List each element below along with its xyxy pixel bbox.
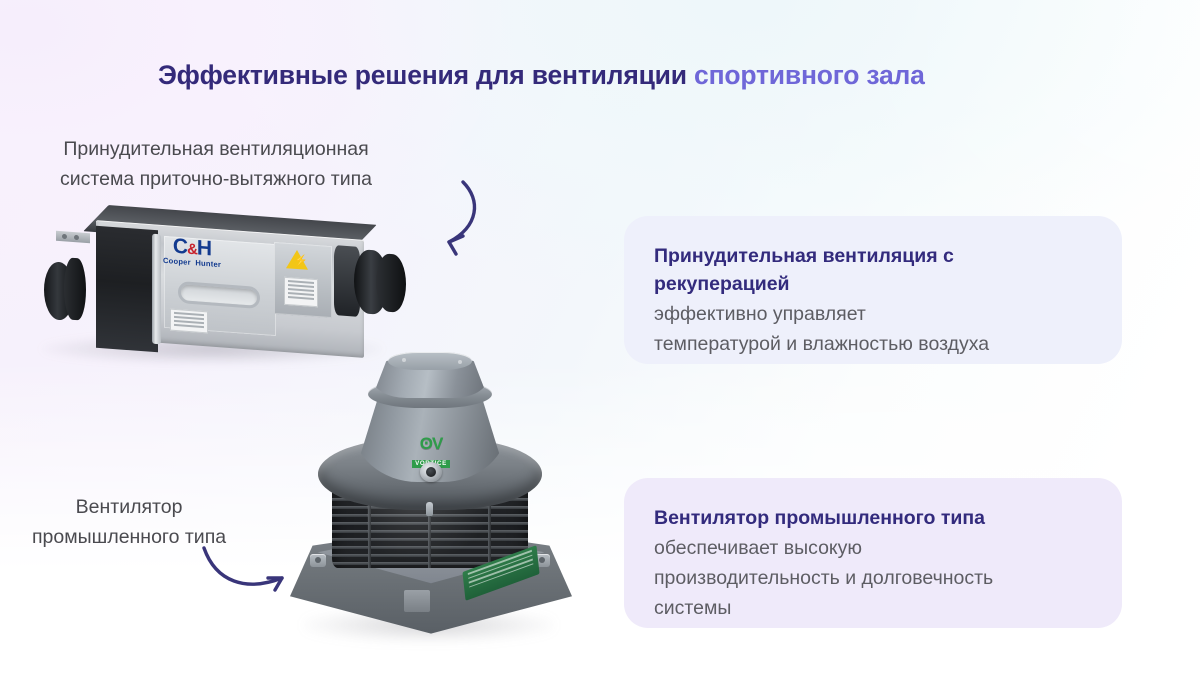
hrv-warning-bolt-icon: ⚡ bbox=[294, 255, 308, 267]
card2-body-line2: производительность и долговечность bbox=[654, 563, 1092, 593]
caption-hrv-line1: Принудительная вентиляционная bbox=[60, 134, 372, 164]
card2-body-line1: обеспечивает высокую bbox=[654, 533, 1092, 563]
card1-heading-line1: Принудительная вентиляция с bbox=[654, 242, 1092, 270]
card2-heading-line1: Вентилятор промышленного типа bbox=[654, 504, 1092, 532]
infographic-canvas: Эффективные решения для вентиляции спорт… bbox=[0, 0, 1200, 700]
photo-industrial-fan: ʘV VORTICE bbox=[276, 352, 586, 652]
card1-heading-line2: рекуперацией bbox=[654, 270, 1092, 298]
fan-cowl-screw bbox=[458, 360, 462, 364]
caption-industrial-fan: Вентилятор промышленного типа bbox=[32, 492, 226, 552]
hrv-wiring-label bbox=[284, 277, 318, 307]
caption-fan-line2: промышленного типа bbox=[32, 522, 226, 552]
fan-base-bolt bbox=[310, 554, 326, 567]
hrv-duct-right-inner bbox=[376, 253, 406, 313]
hrv-duct-left-inner bbox=[64, 257, 86, 321]
page-title: Эффективные решения для вентиляции спорт… bbox=[158, 60, 1058, 91]
hrv-bolt bbox=[62, 234, 67, 239]
info-card-fan: Вентилятор промышленного типа обеспечива… bbox=[624, 478, 1122, 628]
caption-hrv-line2: система приточно-вытяжного типа bbox=[60, 164, 372, 194]
caption-fan-line1: Вентилятор bbox=[32, 492, 226, 522]
fan-cowl-tab bbox=[426, 502, 433, 516]
hrv-brand-logo: C&H Cooper Hunter bbox=[144, 235, 240, 276]
card2-body-line3: системы bbox=[654, 593, 1092, 623]
card2-heading: Вентилятор промышленного типа bbox=[654, 504, 1092, 532]
photo-hrv-unit: C&H Cooper Hunter ⚡ bbox=[18, 222, 418, 372]
card1-body-line1: эффективно управляет bbox=[654, 299, 1092, 329]
fan-brand-mark-icon: ʘV bbox=[406, 436, 456, 452]
card1-body-line2: температурой и влажностью воздуха bbox=[654, 329, 1092, 359]
card1-heading: Принудительная вентиляция с рекуперацией bbox=[654, 242, 1092, 298]
fan-cowl-screw bbox=[402, 358, 406, 362]
fan-center-plate bbox=[404, 590, 430, 612]
card1-body: эффективно управляет температурой и влаж… bbox=[654, 299, 1092, 359]
page-title-main: Эффективные решения для вентиляции bbox=[158, 60, 694, 90]
page-title-accent: спортивного зала bbox=[694, 60, 925, 90]
info-card-ventilation: Принудительная вентиляция с рекуперацией… bbox=[624, 216, 1122, 364]
hrv-bolt bbox=[74, 235, 79, 240]
hrv-spec-label bbox=[170, 309, 208, 334]
caption-hrv-unit: Принудительная вентиляционная система пр… bbox=[60, 134, 372, 194]
fan-cable-port bbox=[420, 462, 442, 482]
card2-body: обеспечивает высокую производительность … bbox=[654, 533, 1092, 623]
